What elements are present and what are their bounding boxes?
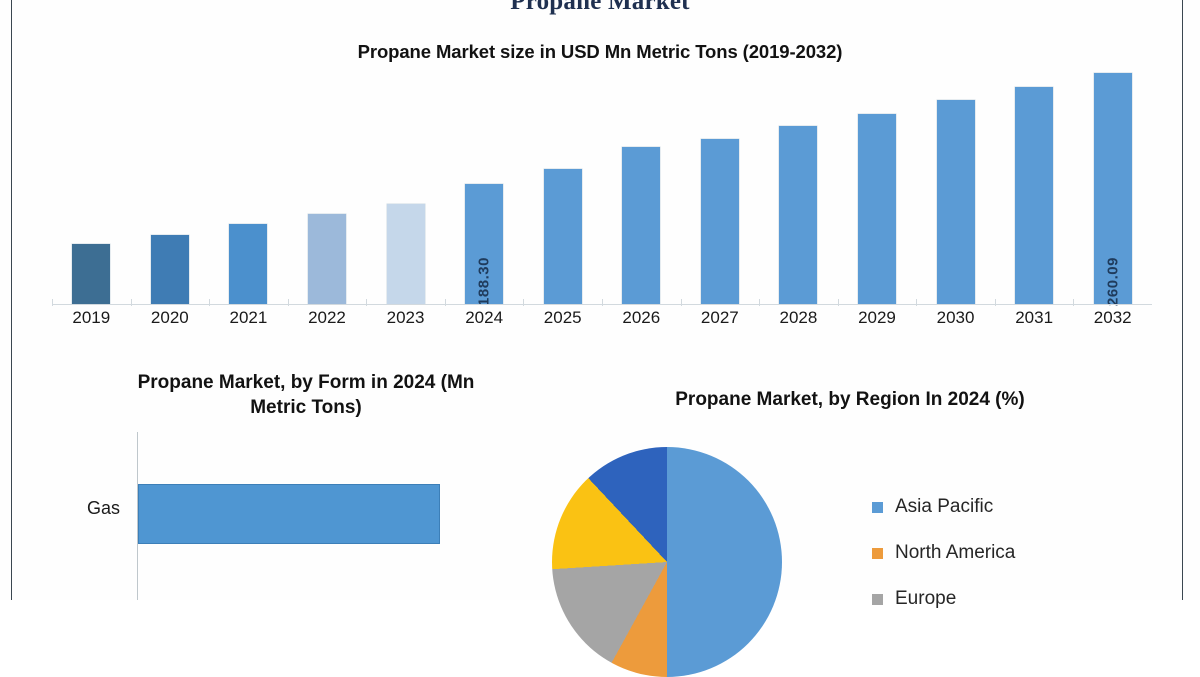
- x-label-2029: 2029: [838, 308, 917, 328]
- legend-swatch-icon: [872, 594, 883, 605]
- bar-2019: [72, 244, 110, 304]
- x-axis-tick: [523, 299, 524, 306]
- bar-2023: [387, 204, 425, 304]
- bar-slot: 260.09: [1073, 60, 1152, 304]
- legend-swatch-icon: [872, 548, 883, 559]
- x-axis-tick: [131, 299, 132, 306]
- bar-value-label: 260.09: [1104, 257, 1121, 306]
- form-title-line1: Propane Market, by Form in 2024 (Mn: [138, 372, 475, 393]
- bar-value-label: 188.30: [476, 257, 493, 306]
- x-axis-tick: [445, 299, 446, 306]
- x-axis-tick: [209, 299, 210, 306]
- bar-slot: 188.30: [445, 60, 524, 304]
- legend-label: Europe: [895, 588, 956, 610]
- x-label-2025: 2025: [523, 308, 602, 328]
- x-axis-tick: [916, 299, 917, 306]
- bar-2030: [937, 100, 975, 304]
- frame-border-left: [11, 0, 12, 600]
- x-label-2022: 2022: [288, 308, 367, 328]
- bar-slot: [759, 60, 838, 304]
- infographic-page: Propane Market Propane Market size in US…: [0, 0, 1200, 600]
- x-axis-labels: 2019202020212022202320242025202620272028…: [52, 308, 1152, 336]
- bar-2025: [544, 169, 582, 304]
- form-category-label: Gas: [62, 498, 120, 519]
- bar-2026: [622, 147, 660, 304]
- x-axis-tick: [288, 299, 289, 306]
- x-axis-tick: [602, 299, 603, 306]
- form-chart-title: Propane Market, by Form in 2024 (Mn Metr…: [56, 370, 556, 421]
- bar-slot: [838, 60, 917, 304]
- legend-item-asia-pacific: Asia Pacific: [872, 484, 1172, 530]
- form-title-line2: Metric Tons): [250, 397, 362, 418]
- bar-2029: [858, 114, 896, 304]
- region-chart-title: Propane Market, by Region In 2024 (%): [600, 387, 1100, 412]
- bar-2020: [151, 235, 189, 304]
- bar-slot: [602, 60, 681, 304]
- x-axis-tick: [1073, 299, 1074, 306]
- bar-2028: [779, 126, 817, 304]
- bar-slot: [681, 60, 760, 304]
- legend-item-north-america: North America: [872, 530, 1172, 576]
- x-label-2023: 2023: [366, 308, 445, 328]
- frame-border-right: [1182, 0, 1183, 600]
- bar-slot: [523, 60, 602, 304]
- bar-slot: [52, 60, 131, 304]
- x-label-2024: 2024: [445, 308, 524, 328]
- form-bar-gas: [138, 484, 440, 544]
- x-label-2030: 2030: [916, 308, 995, 328]
- form-bar-chart: [120, 432, 450, 600]
- x-label-2027: 2027: [681, 308, 760, 328]
- bar-2032: 260.09: [1094, 73, 1132, 304]
- x-label-2032: 2032: [1073, 308, 1152, 328]
- x-axis-tick: [681, 299, 682, 306]
- x-label-2019: 2019: [52, 308, 131, 328]
- bar-slot: [366, 60, 445, 304]
- x-axis-tick: [52, 299, 53, 306]
- x-label-2020: 2020: [131, 308, 210, 328]
- legend-label: Asia Pacific: [895, 496, 993, 518]
- page-title: Propane Market: [0, 0, 1200, 16]
- bar-2027: [701, 139, 739, 304]
- bar-slot: [209, 60, 288, 304]
- legend-item-europe: Europe: [872, 576, 1172, 622]
- bar-slot: [288, 60, 367, 304]
- bar-2031: [1015, 87, 1053, 304]
- market-size-bar-chart: 188.30260.09: [52, 60, 1152, 305]
- legend-swatch-icon: [872, 502, 883, 513]
- bar-slot: [995, 60, 1074, 304]
- x-label-2021: 2021: [209, 308, 288, 328]
- bar-slot: [131, 60, 210, 304]
- bar-slot: [916, 60, 995, 304]
- legend-label: North America: [895, 542, 1015, 564]
- pie-slices: [552, 447, 782, 677]
- x-axis-tick: [759, 299, 760, 306]
- region-pie-chart: [542, 437, 872, 637]
- x-label-2031: 2031: [995, 308, 1074, 328]
- region-legend: Asia PacificNorth AmericaEurope: [872, 484, 1172, 622]
- x-axis-tick: [366, 299, 367, 306]
- bar-plot-area: 188.30260.09: [52, 60, 1152, 304]
- bar-2024: 188.30: [465, 184, 503, 304]
- x-label-2026: 2026: [602, 308, 681, 328]
- bar-2022: [308, 214, 346, 304]
- x-axis-tick: [995, 299, 996, 306]
- bar-2021: [229, 224, 267, 304]
- x-label-2028: 2028: [759, 308, 838, 328]
- x-axis-tick: [838, 299, 839, 306]
